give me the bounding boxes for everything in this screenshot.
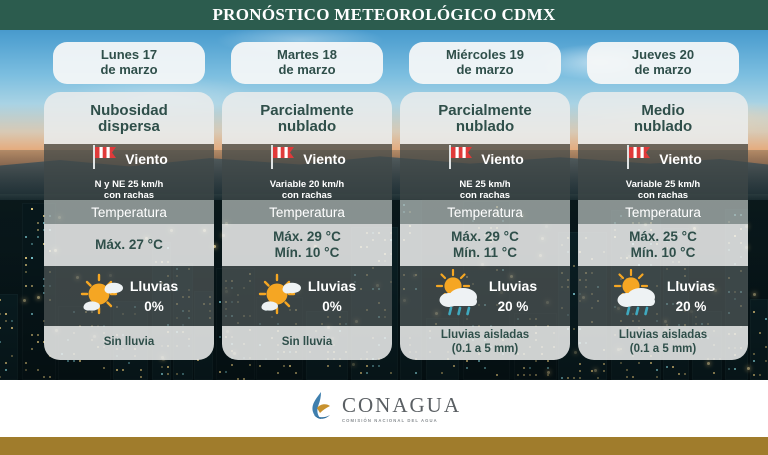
temperature-max: Máx. 29 °C xyxy=(451,229,519,245)
day-pill-1[interactable]: Martes 18 de marzo xyxy=(231,42,383,84)
wind-section: Viento Variable 25 km/h con rachas xyxy=(578,144,748,200)
temperature-title: Temperatura xyxy=(625,205,701,220)
conagua-logo: CONAGUA COMISIÓN NACIONAL DEL AGUA xyxy=(307,391,461,426)
condition-line2: dispersa xyxy=(98,119,160,136)
rain-note-line1: Sin lluvia xyxy=(282,336,333,350)
rain-section: Lluvias 0% xyxy=(222,266,392,326)
rain-note-line2: (0.1 a 5 mm) xyxy=(452,343,518,357)
temperature-min: Mín. 10 °C xyxy=(275,245,340,261)
condition-section: Parcialmente nublado xyxy=(400,92,570,144)
condition-line2: nublado xyxy=(456,119,514,136)
header-bar: PRONÓSTICO METEOROLÓGICO CDMX xyxy=(0,0,768,30)
rain-section: Lluvias 0% xyxy=(44,266,214,326)
rain-probability: 0% xyxy=(322,299,342,314)
temperature-title: Temperatura xyxy=(269,205,345,220)
forecast-card-1[interactable]: Parcialmente nublado Viento Variable 20 … xyxy=(222,92,392,360)
rain-note: Sin lluvia xyxy=(222,326,392,360)
temperature-header: Temperatura xyxy=(578,200,748,224)
windsock-icon xyxy=(446,142,476,177)
sun-cloud-rain-icon xyxy=(433,269,485,324)
footer-logo-bar: CONAGUA COMISIÓN NACIONAL DEL AGUA xyxy=(0,380,768,437)
wind-section: Viento NE 25 km/h con rachas xyxy=(400,144,570,200)
forecast-card-2[interactable]: Parcialmente nublado Viento NE 25 km/h c… xyxy=(400,92,570,360)
rain-probability: 0% xyxy=(144,299,164,314)
day-pill-0[interactable]: Lunes 17 de marzo xyxy=(53,42,205,84)
sun-cloud-rain-icon xyxy=(611,269,663,324)
condition-line2: nublado xyxy=(634,119,692,136)
day-pill-label-line2: de marzo xyxy=(100,63,157,78)
conagua-water-drop-icon xyxy=(307,391,335,426)
rain-note: Sin lluvia xyxy=(44,326,214,360)
windsock-icon xyxy=(90,142,120,177)
condition-section: Medio nublado xyxy=(578,92,748,144)
rain-title: Lluvias xyxy=(308,278,356,294)
temperature-min: Mín. 11 °C xyxy=(453,245,517,261)
weather-forecast-infographic: PRONÓSTICO METEOROLÓGICO CDMX Lunes 17 d… xyxy=(0,0,768,455)
wind-title: Viento xyxy=(481,151,524,167)
wind-speed: Variable 25 km/h xyxy=(626,179,700,190)
day-pill-label-line1: Martes 18 xyxy=(277,48,337,63)
temperature-header: Temperatura xyxy=(44,200,214,224)
temperature-values: Máx. 25 °C Mín. 10 °C xyxy=(578,224,748,266)
wind-title: Viento xyxy=(303,151,346,167)
rain-section: Lluvias 20 % xyxy=(578,266,748,326)
sun-cloud-icon xyxy=(80,273,126,320)
rain-title: Lluvias xyxy=(489,278,537,294)
wind-speed: N y NE 25 km/h xyxy=(95,179,164,190)
temperature-header: Temperatura xyxy=(400,200,570,224)
wind-title: Viento xyxy=(125,151,168,167)
page-title: PRONÓSTICO METEOROLÓGICO CDMX xyxy=(212,5,555,25)
wind-title: Viento xyxy=(659,151,702,167)
day-pill-2[interactable]: Miércoles 19 de marzo xyxy=(409,42,561,84)
condition-line2: nublado xyxy=(278,119,336,136)
wind-section: Viento Variable 20 km/h con rachas xyxy=(222,144,392,200)
rain-section: Lluvias 20 % xyxy=(400,266,570,326)
footer-gold-bar xyxy=(0,437,768,455)
rain-note: Lluvias aisladas (0.1 a 5 mm) xyxy=(400,326,570,360)
rain-title: Lluvias xyxy=(130,278,178,294)
rain-note-line2: (0.1 a 5 mm) xyxy=(630,343,696,357)
temperature-values: Máx. 29 °C Mín. 11 °C xyxy=(400,224,570,266)
condition-section: Nubosidad dispersa xyxy=(44,92,214,144)
temperature-title: Temperatura xyxy=(447,205,523,220)
temperature-min: Mín. 10 °C xyxy=(631,245,696,261)
rain-probability: 20 % xyxy=(498,299,529,314)
windsock-icon xyxy=(268,142,298,177)
wind-speed: NE 25 km/h xyxy=(459,179,510,190)
sun-cloud-icon xyxy=(258,273,304,320)
day-pill-3[interactable]: Jueves 20 de marzo xyxy=(587,42,739,84)
day-pill-label-line2: de marzo xyxy=(634,63,691,78)
logo-subtitle: COMISIÓN NACIONAL DEL AGUA xyxy=(342,418,461,423)
rain-note: Lluvias aisladas (0.1 a 5 mm) xyxy=(578,326,748,360)
temperature-values: Máx. 29 °C Mín. 10 °C xyxy=(222,224,392,266)
temperature-values: Máx. 27 °C xyxy=(44,224,214,266)
rain-note-line1: Sin lluvia xyxy=(104,336,155,350)
temperature-header: Temperatura xyxy=(222,200,392,224)
wind-speed: Variable 20 km/h xyxy=(270,179,344,190)
forecast-card-3[interactable]: Medio nublado Viento Variable 25 km/h co… xyxy=(578,92,748,360)
condition-section: Parcialmente nublado xyxy=(222,92,392,144)
forecast-card-0[interactable]: Nubosidad dispersa Viento N y NE 25 km/h… xyxy=(44,92,214,360)
day-pill-label-line2: de marzo xyxy=(456,63,513,78)
day-pill-label-line1: Miércoles 19 xyxy=(446,48,524,63)
day-pill-label-line1: Jueves 20 xyxy=(632,48,694,63)
temperature-max: Máx. 27 °C xyxy=(95,237,163,253)
temperature-title: Temperatura xyxy=(91,205,167,220)
logo-name: CONAGUA xyxy=(342,395,461,416)
rain-probability: 20 % xyxy=(676,299,707,314)
condition-line1: Parcialmente xyxy=(260,103,353,120)
temperature-max: Máx. 25 °C xyxy=(629,229,697,245)
windsock-icon xyxy=(624,142,654,177)
day-pill-label-line1: Lunes 17 xyxy=(101,48,157,63)
temperature-max: Máx. 29 °C xyxy=(273,229,341,245)
condition-line1: Parcialmente xyxy=(438,103,531,120)
rain-note-line1: Lluvias aisladas xyxy=(619,329,707,343)
rain-title: Lluvias xyxy=(667,278,715,294)
rain-note-line1: Lluvias aisladas xyxy=(441,329,529,343)
wind-section: Viento N y NE 25 km/h con rachas xyxy=(44,144,214,200)
day-pill-label-line2: de marzo xyxy=(278,63,335,78)
condition-line1: Nubosidad xyxy=(90,103,168,120)
condition-line1: Medio xyxy=(641,103,684,120)
